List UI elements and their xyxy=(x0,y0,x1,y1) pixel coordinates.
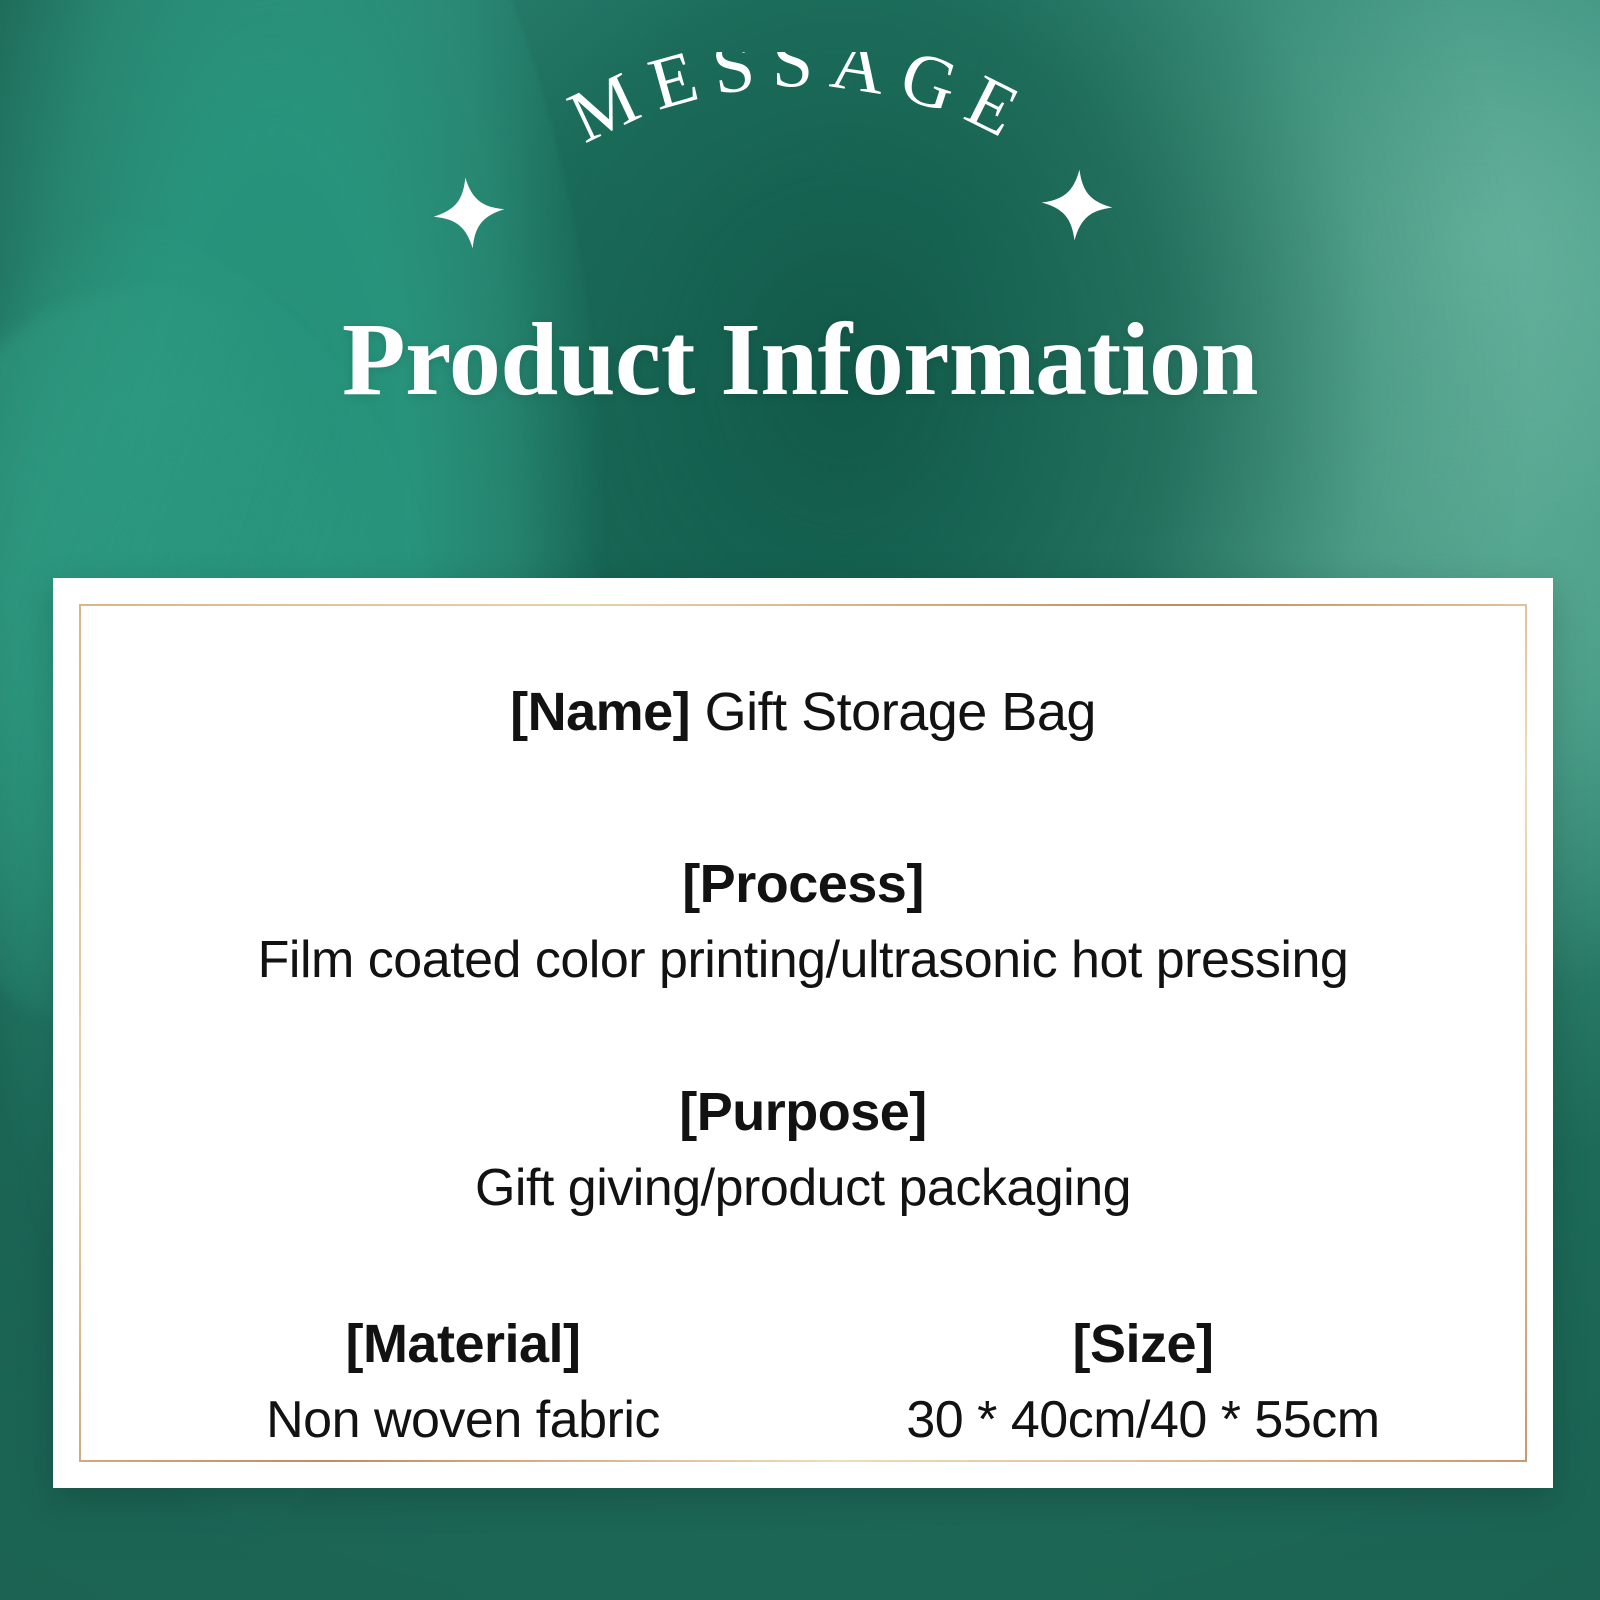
info-column-size: [Size] 30 * 40cm/40 * 55cm xyxy=(803,1313,1483,1451)
eyebrow-text: MESSAGE xyxy=(557,52,1044,160)
info-value-purpose: Gift giving/product packaging xyxy=(123,1157,1483,1219)
page-title: Product Information xyxy=(0,302,1600,418)
info-value-name: Gift Storage Bag xyxy=(705,682,1096,742)
info-row-material-size: [Material] Non woven fabric [Size] 30 * … xyxy=(123,1261,1483,1451)
info-column-material: [Material] Non woven fabric xyxy=(123,1313,803,1451)
sparkle-four-point-icon xyxy=(428,172,509,253)
sparkle-four-point-icon xyxy=(1038,166,1117,245)
info-value-size: 30 * 40cm/40 * 55cm xyxy=(803,1389,1483,1451)
info-label-size: [Size] xyxy=(803,1313,1483,1377)
info-row-purpose: [Purpose] Gift giving/product packaging xyxy=(123,1033,1483,1261)
product-information-poster: MESSAGE Product Information [Name] Gift … xyxy=(0,0,1600,1600)
info-label-process: [Process] xyxy=(123,853,1483,917)
card-body: [Name] Gift Storage Bag [Process] Film c… xyxy=(123,618,1483,1448)
info-row-name: [Name] Gift Storage Bag xyxy=(123,618,1483,805)
info-label-name: [Name] xyxy=(510,682,690,742)
material-size-columns: [Material] Non woven fabric [Size] 30 * … xyxy=(123,1313,1483,1451)
eyebrow-message-arc: MESSAGE xyxy=(0,52,1600,302)
info-row-process: [Process] Film coated color printing/ult… xyxy=(123,805,1483,1033)
info-value-material: Non woven fabric xyxy=(123,1389,803,1451)
product-info-card: [Name] Gift Storage Bag [Process] Film c… xyxy=(53,578,1553,1488)
info-label-material: [Material] xyxy=(123,1313,803,1377)
info-value-process: Film coated color printing/ultrasonic ho… xyxy=(123,929,1483,991)
info-label-purpose: [Purpose] xyxy=(123,1081,1483,1145)
